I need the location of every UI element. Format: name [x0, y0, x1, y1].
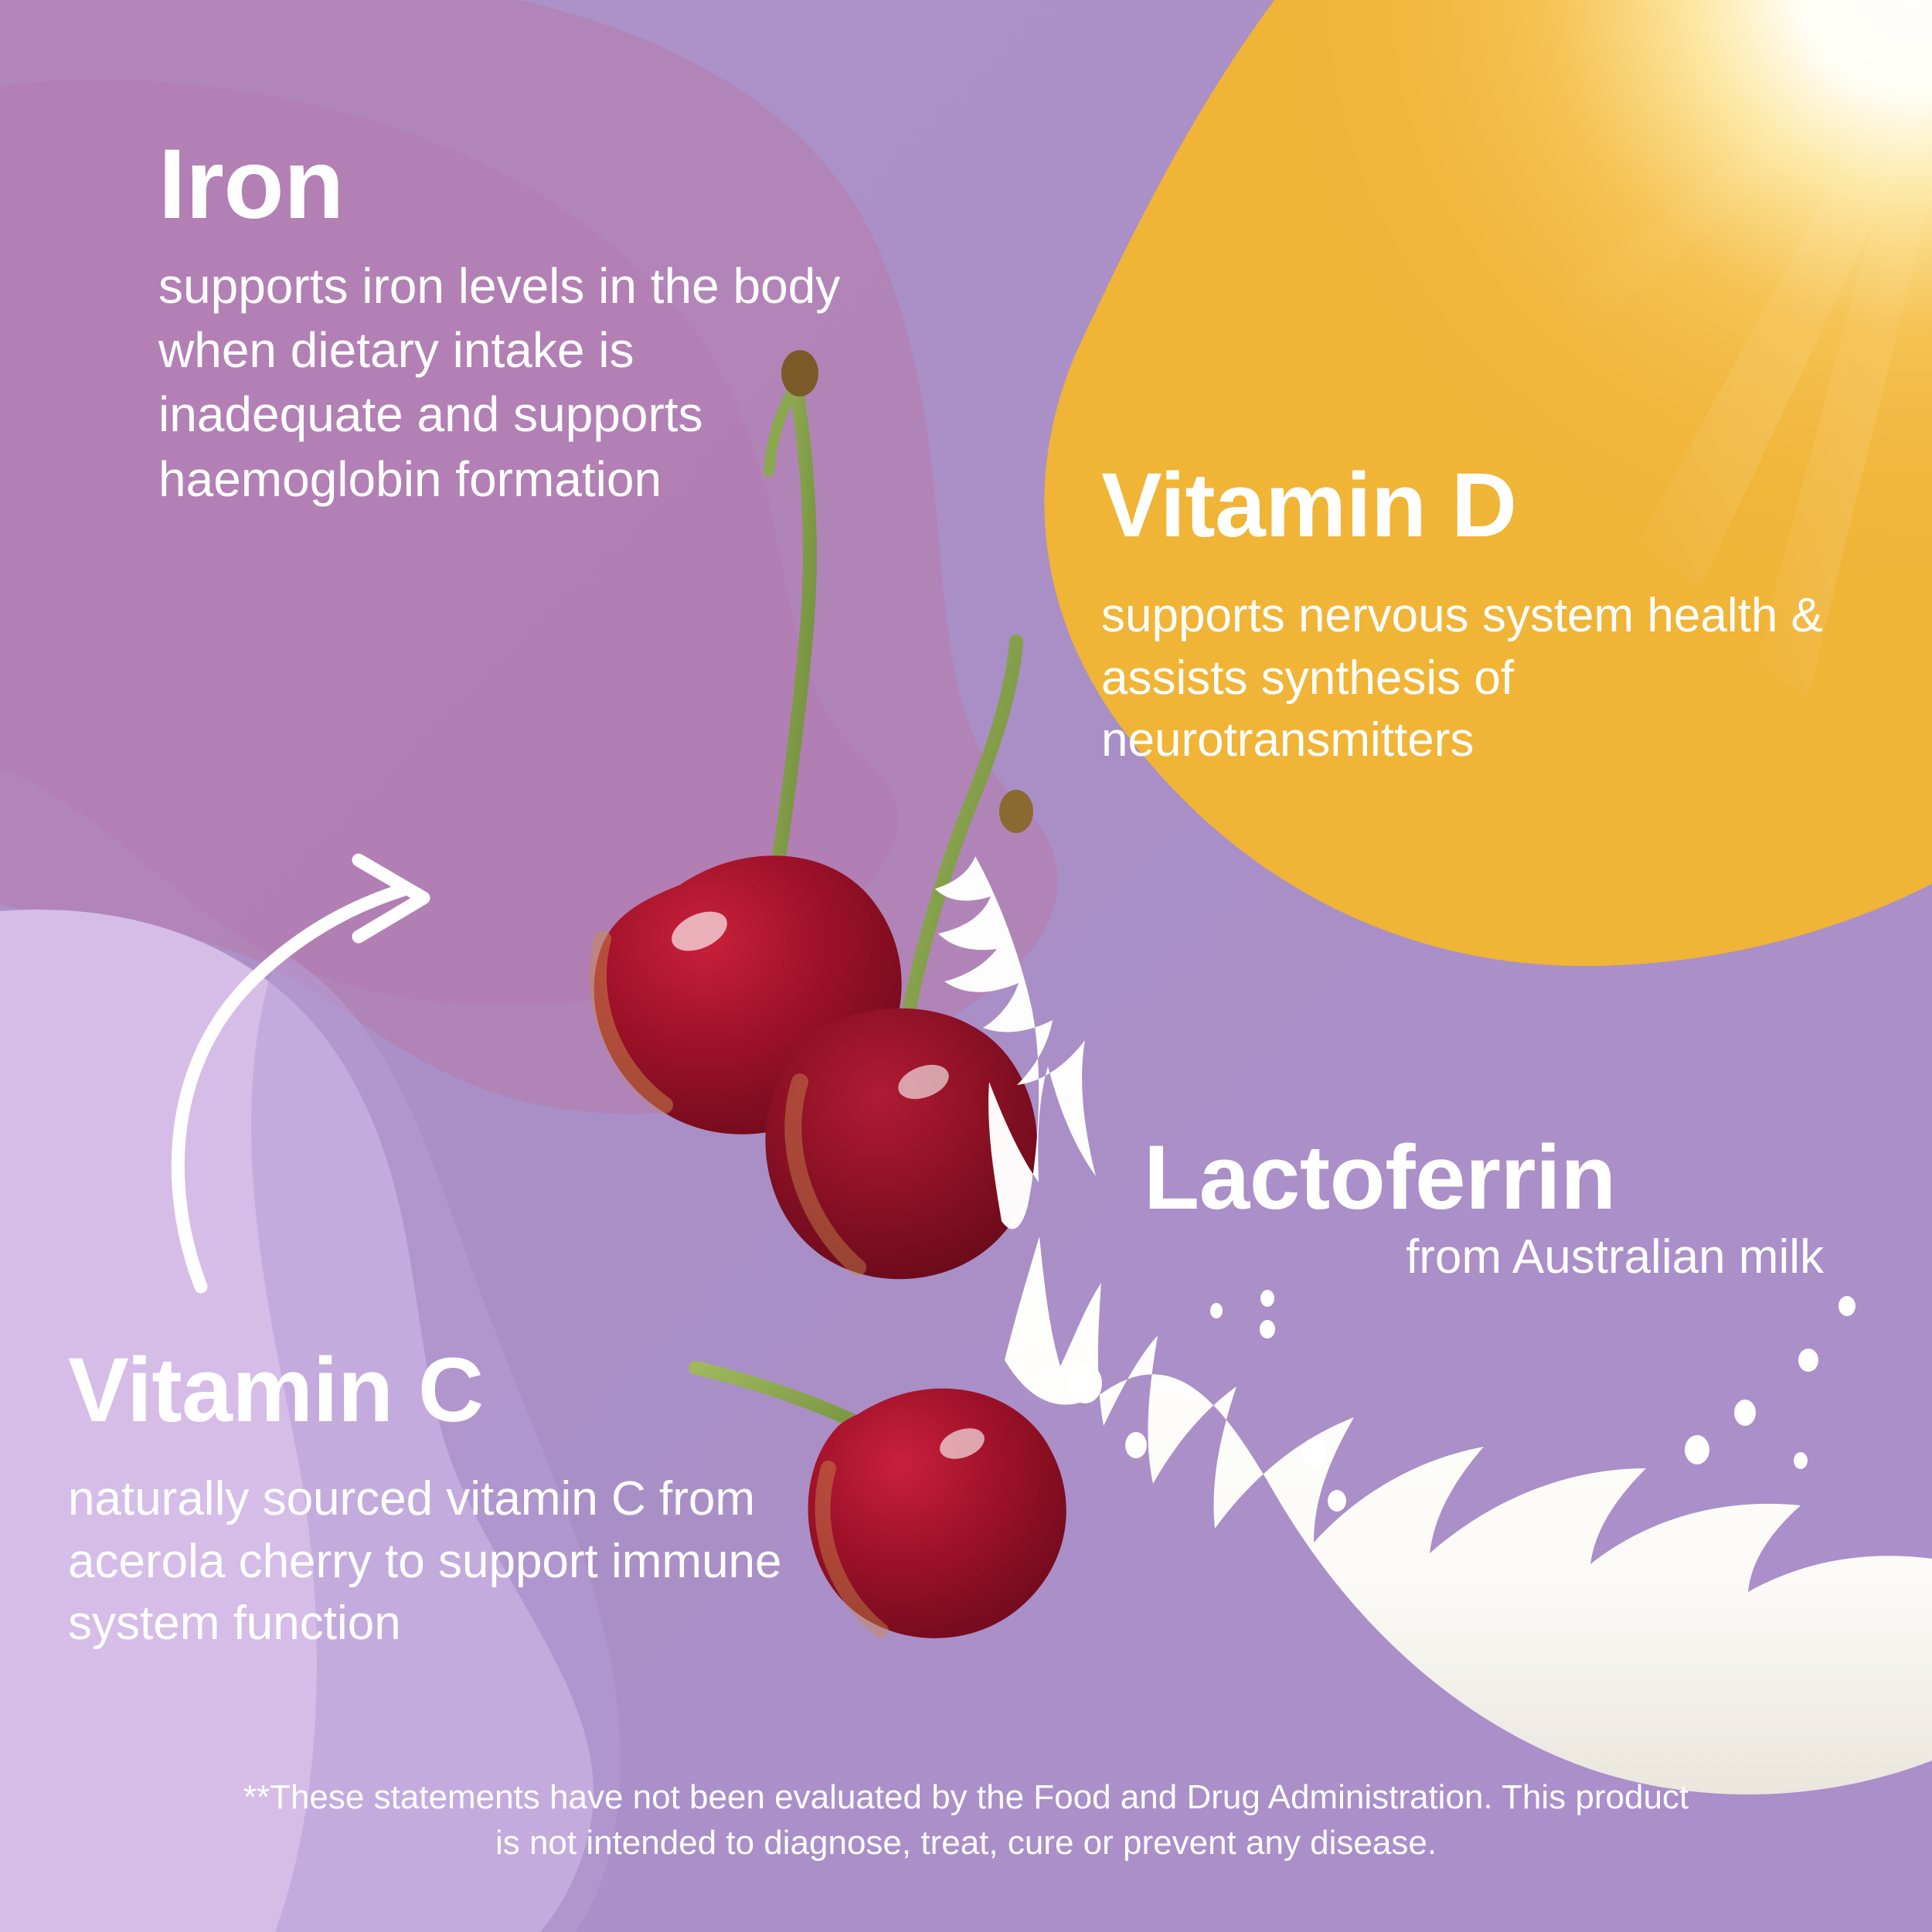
infographic-canvas: Iron supports iron levels in the body wh…	[0, 0, 1932, 1932]
vitamin-c-heading: Vitamin C	[68, 1345, 794, 1436]
lactoferrin-section: Lactoferrin from Australian milk	[1144, 1132, 1839, 1284]
lactoferrin-subtitle: from Australian milk	[1144, 1230, 1839, 1284]
iron-section: Iron supports iron levels in the body wh…	[158, 135, 854, 512]
lactoferrin-heading: Lactoferrin	[1144, 1132, 1839, 1223]
curved-arrow-icon	[139, 835, 464, 1314]
iron-heading: Iron	[158, 135, 854, 234]
vitamin-d-body: supports nervous system health & assists…	[1101, 585, 1859, 772]
vitamin-d-heading: Vitamin D	[1101, 460, 1859, 551]
cherry-stem-2-node	[999, 790, 1033, 833]
disclaimer-text: **These statements have not been evaluat…	[0, 1774, 1932, 1866]
vitamin-c-body: naturally sourced vitamin C from acerola…	[68, 1468, 794, 1655]
disclaimer-line-2: is not intended to diagnose, treat, cure…	[0, 1820, 1932, 1866]
iron-body: supports iron levels in the body when di…	[158, 254, 854, 512]
vitamin-d-section: Vitamin D supports nervous system health…	[1101, 460, 1859, 772]
vitamin-c-section: Vitamin C naturally sourced vitamin C fr…	[68, 1345, 794, 1655]
disclaimer-line-1: **These statements have not been evaluat…	[0, 1774, 1932, 1820]
